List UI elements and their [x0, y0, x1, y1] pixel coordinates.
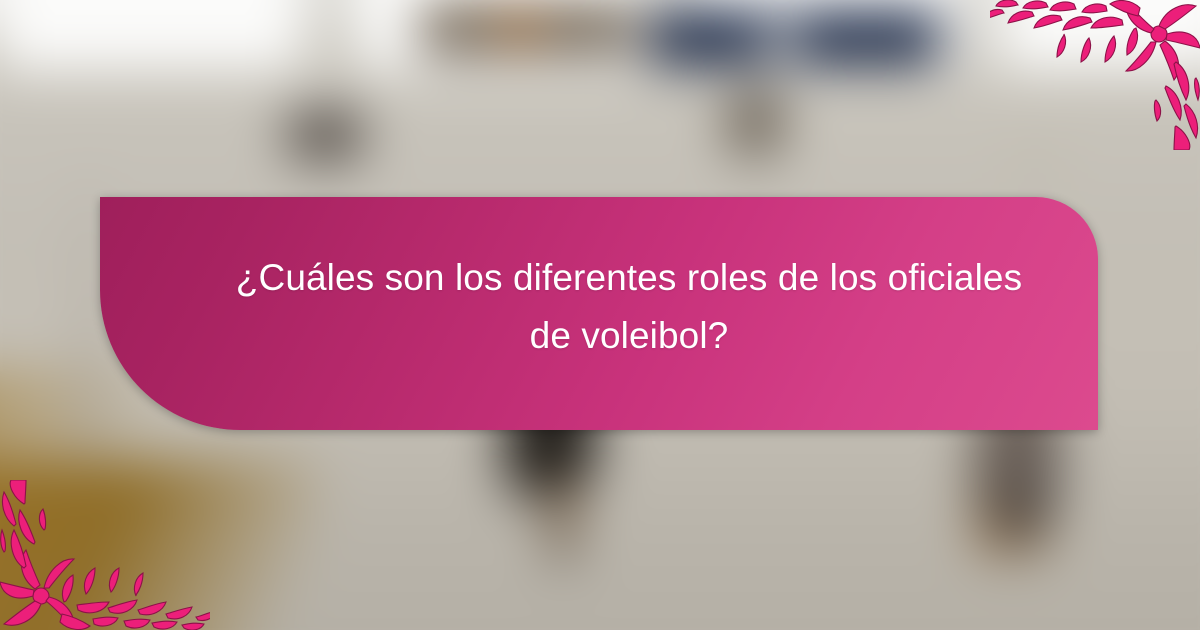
wall-sign-accent [500, 18, 540, 40]
window-pane [0, 0, 300, 70]
player-silhouette-background [720, 85, 790, 165]
question-banner: ¿Cuáles son los diferentes roles de los … [100, 197, 1098, 430]
net-post-left [80, 165, 96, 455]
window-mullion [315, 0, 341, 80]
share-card: ¿Cuáles son los diferentes roles de los … [0, 0, 1200, 630]
net-post-right [1000, 135, 1070, 195]
scoreboard-panel-secondary [820, 10, 940, 65]
wood-floor [0, 460, 320, 630]
background-blob [280, 105, 370, 165]
player-leg [552, 480, 574, 560]
scoreboard-ball [765, 22, 799, 56]
page-title: ¿Cuáles son los diferentes roles de los … [100, 249, 1098, 378]
window-pane [1000, 0, 1200, 70]
window-mullion [970, 0, 996, 80]
